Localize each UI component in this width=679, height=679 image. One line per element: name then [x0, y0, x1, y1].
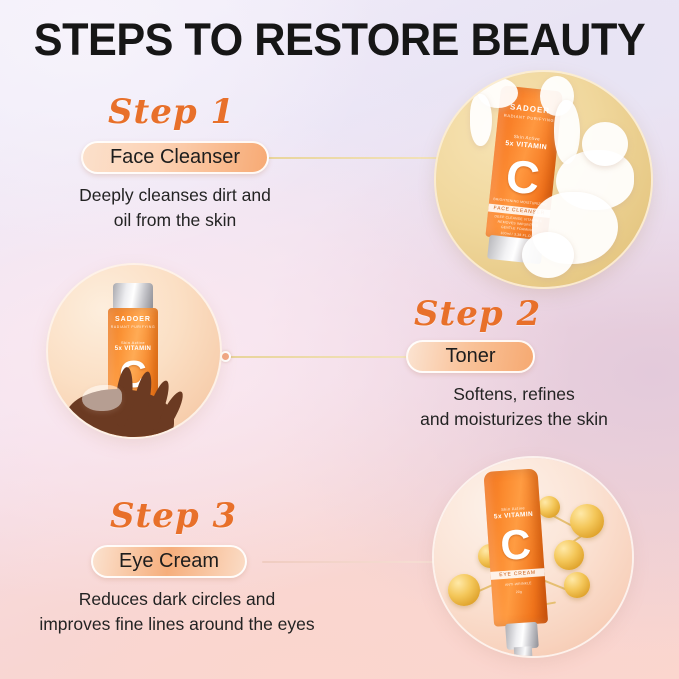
- toner-brand-sub: RADIANT PURIFYING: [108, 325, 158, 329]
- hand-highlight: [82, 385, 122, 411]
- step-3-description-line-1: Reduces dark circles and: [12, 587, 342, 612]
- eye-cream-fine-print-1: 20g: [492, 588, 546, 597]
- connector-dot-step-2: [220, 351, 231, 362]
- toner-bottle-cap: [113, 283, 153, 309]
- step-3-description-line-2: improves fine lines around the eyes: [12, 612, 342, 637]
- step-1-description-line-1: Deeply cleanses dirt and: [44, 183, 306, 208]
- toner-brand: SADOER: [108, 316, 158, 323]
- infographic-poster: STEPS TO RESTORE BEAUTY Step 1 Face Clea…: [0, 0, 679, 679]
- connector-line-step-2: [228, 356, 410, 358]
- step-1-heading: Step 1: [108, 92, 235, 132]
- eye-cream-product-name: EYE CREAM: [490, 568, 544, 580]
- foam-blob: [582, 122, 628, 166]
- foam-blob: [522, 232, 574, 278]
- page-title: STEPS TO RESTORE BEAUTY: [14, 14, 666, 66]
- step-2-heading: Step 2: [414, 294, 541, 334]
- molecule-sphere: [554, 540, 584, 570]
- step-2-pill-toner[interactable]: Toner: [406, 340, 535, 373]
- step-2-description: Softens, refines and moisturizes the ski…: [369, 382, 659, 432]
- step-2-description-line-2: and moisturizes the skin: [369, 407, 659, 432]
- eye-cream-big-letter-c: C: [487, 522, 544, 568]
- step-3-product-circle: Skin Active 5x VITAMIN C EYE CREAM ANTI-…: [434, 458, 632, 656]
- step-1-description-line-2: oil from the skin: [44, 208, 306, 233]
- molecule-sphere: [538, 496, 560, 518]
- step-3-pill-eye-cream[interactable]: Eye Cream: [91, 545, 247, 578]
- molecule-sphere: [570, 504, 604, 538]
- toner-vitamin-line: 5x VITAMIN: [108, 346, 158, 352]
- eye-cream-tube-body: Skin Active 5x VITAMIN C EYE CREAM ANTI-…: [483, 468, 548, 626]
- eye-cream-tube-neck: [505, 622, 539, 650]
- step-3-description: Reduces dark circles and improves fine l…: [12, 587, 342, 637]
- step-1-pill-label: Face Cleanser: [110, 146, 240, 169]
- step-1-description: Deeply cleanses dirt and oil from the sk…: [44, 183, 306, 233]
- step-2-description-line-1: Softens, refines: [369, 382, 659, 407]
- eye-cream-fine-print-0: ANTI-WRINKLE: [491, 580, 545, 589]
- cleanser-big-letter-c: C: [490, 151, 556, 203]
- molecule-sphere: [564, 572, 590, 598]
- molecule-sphere: [448, 574, 480, 606]
- connector-line-step-3: [262, 561, 448, 563]
- connector-line-step-1: [258, 157, 448, 159]
- step-1-product-circle: SADOER RADIANT PURIFYING Skin Active 5x …: [436, 72, 651, 287]
- step-2-product-circle: SADOER RADIANT PURIFYING Skin Active 5x …: [48, 265, 220, 437]
- eye-cream-applicator-tip: [514, 646, 533, 656]
- foam-blob: [470, 94, 492, 146]
- step-2-pill-label: Toner: [445, 345, 495, 368]
- toner-active-line: Skin Active: [108, 340, 158, 345]
- step-3-product-eye-cream-tube: Skin Active 5x VITAMIN C EYE CREAM ANTI-…: [483, 468, 550, 656]
- step-1-pill-face-cleanser[interactable]: Face Cleanser: [81, 141, 269, 174]
- step-3-pill-label: Eye Cream: [119, 550, 219, 573]
- step-3-heading: Step 3: [110, 496, 237, 536]
